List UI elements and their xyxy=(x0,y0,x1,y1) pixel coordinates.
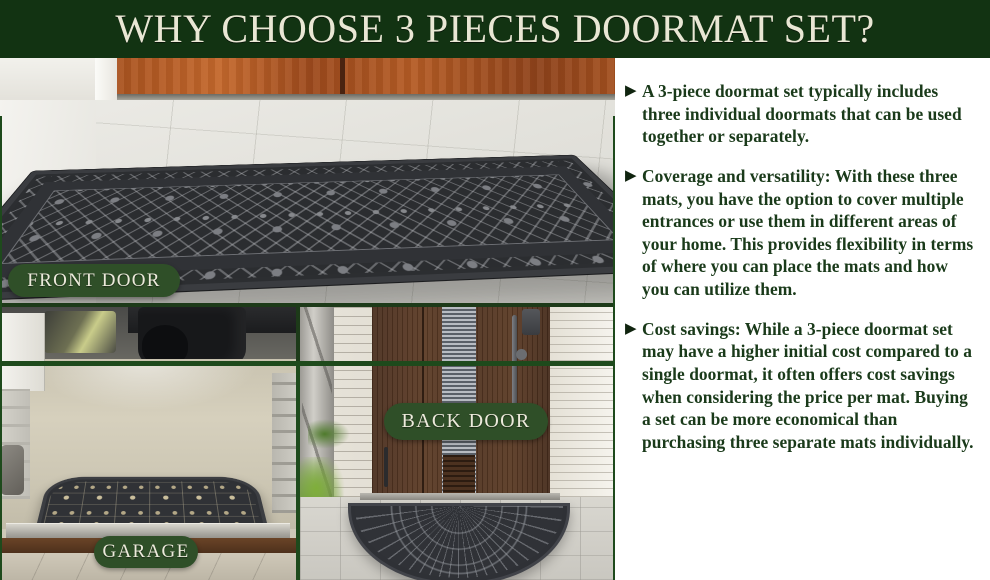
back-door-sill xyxy=(360,493,560,500)
collage-edge-right xyxy=(613,116,615,580)
back-door-lock xyxy=(522,309,540,335)
list-item-text: A 3-piece doormat set typically includes… xyxy=(642,80,976,148)
page-title: WHY CHOOSE 3 PIECES DOORMAT SET? xyxy=(0,0,990,58)
label-garage-text: GARAGE xyxy=(103,541,190,563)
divider-vertical xyxy=(296,365,300,580)
list-item-text: Cost savings: While a 3-piece doormat se… xyxy=(642,318,976,454)
garage-appliance xyxy=(0,313,45,391)
photo-back-door xyxy=(300,307,615,580)
collage-edge-left xyxy=(0,116,2,580)
garage-floor-sheen xyxy=(30,361,260,411)
garage-shelf-right xyxy=(272,373,296,513)
triangle-bullet-icon: ▶ xyxy=(625,169,642,184)
label-garage: GARAGE xyxy=(94,536,198,568)
benefits-list: ▶ A 3-piece doormat set typically includ… xyxy=(615,58,990,580)
list-item: ▶ Cost savings: While a 3-piece doormat … xyxy=(625,318,976,454)
back-door-vent xyxy=(443,455,475,495)
garage-stored-bag xyxy=(0,445,24,495)
back-door-handle-left xyxy=(384,447,388,487)
triangle-bullet-icon: ▶ xyxy=(625,84,642,99)
header-banner: WHY CHOOSE 3 PIECES DOORMAT SET? xyxy=(0,0,990,58)
label-front-door: FRONT DOOR xyxy=(8,264,180,297)
triangle-bullet-icon: ▶ xyxy=(625,322,642,337)
divider-horizontal xyxy=(0,361,615,366)
label-front-door-text: FRONT DOOR xyxy=(27,270,161,292)
label-back-door-text: BACK DOOR xyxy=(402,410,531,433)
label-back-door: BACK DOOR xyxy=(384,403,548,440)
front-door-seam xyxy=(340,58,345,98)
garage-bicycle xyxy=(44,311,116,353)
list-item-text: Coverage and versatility: With these thr… xyxy=(642,165,976,301)
back-door-knob xyxy=(516,349,527,360)
front-door-wood-panel xyxy=(110,58,615,98)
back-door-plant-upper xyxy=(308,419,350,449)
list-item: ▶ Coverage and versatility: With these t… xyxy=(625,165,976,301)
photo-collage xyxy=(0,58,615,580)
list-item: ▶ A 3-piece doormat set typically includ… xyxy=(625,80,976,148)
infographic-page: WHY CHOOSE 3 PIECES DOORMAT SET? xyxy=(0,0,990,580)
